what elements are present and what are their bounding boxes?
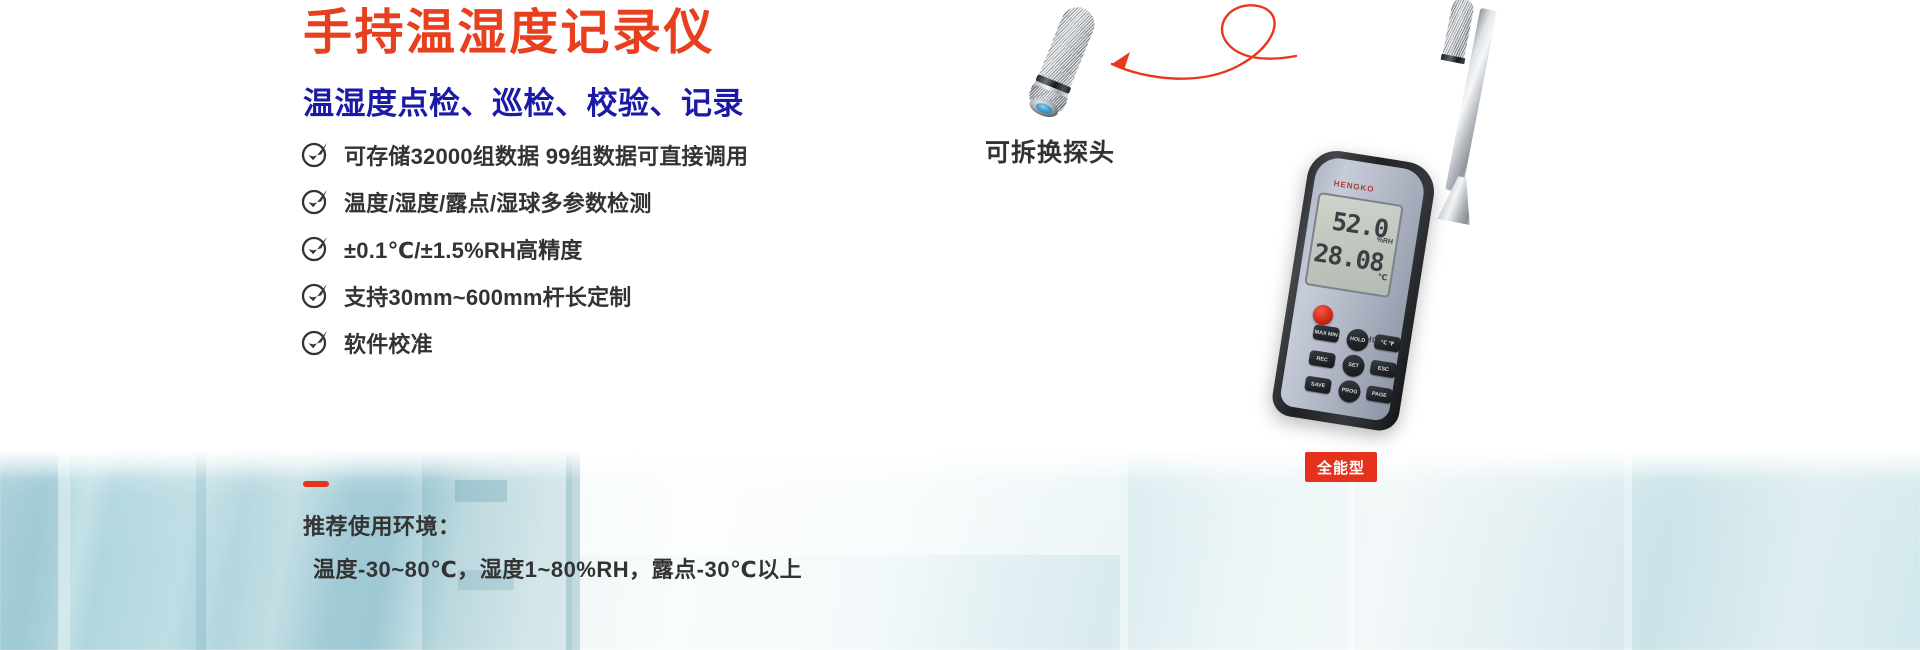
lcd-screen: 52.0 %RH 28.08 ℃ [1304,192,1404,298]
key-esc[interactable]: ESC [1369,359,1397,378]
list-item: 温度/湿度/露点/湿球多参数检测 [302,178,942,225]
list-item: 可存储32000组数据 99组数据可直接调用 [302,131,942,178]
circle-check-icon [302,330,327,355]
feature-list: 可存储32000组数据 99组数据可直接调用 温度/湿度/露点/湿球多参数检测 [302,131,942,366]
key-prog[interactable]: PROG [1337,379,1362,404]
circle-check-icon [302,236,327,261]
key-save[interactable]: SAVE [1304,375,1332,394]
circle-check-icon [302,142,327,167]
key-page[interactable]: PAGE [1365,385,1393,404]
red-dash-divider [303,481,329,487]
status-badge: 全能型 [1305,452,1377,482]
key-max-min[interactable]: MAX MIN [1312,324,1340,343]
feature-text: 温度/湿度/露点/湿球多参数检测 [344,186,652,218]
feature-text: 软件校准 [344,327,433,359]
probe-rod-cap [1442,0,1475,60]
handheld-meter: HENGKO 52.0 %RH 28.08 ℃ HG970 MAX MIN HO… [1115,0,1535,510]
list-item: ±0.1℃/±1.5%RH高精度 [302,225,942,272]
product-column: 可拆换探头 HENGKO 52.0 %RH 28.08 ℃ HG970 MAX … [940,0,1920,650]
environment-title: 推荐使用环境： [303,509,802,541]
lcd-temperature-value: 28.08 [1312,238,1386,278]
key-set[interactable]: SET [1341,353,1366,378]
environment-spec: 温度-30~80℃，湿度1~80%RH，露点-30℃以上 [303,552,802,584]
feature-text: 支持30mm~600mm杆长定制 [344,280,631,312]
list-item: 支持30mm~600mm杆长定制 [302,272,942,319]
probe-rod-taper [1437,174,1478,225]
lcd-humidity-unit: %RH [1376,237,1393,246]
probe-label: 可拆换探头 [985,133,1115,169]
key-rec[interactable]: REC [1308,350,1336,369]
circle-check-icon [302,189,327,214]
key-unit[interactable]: ℃ ℉ [1373,334,1401,353]
copy-column: 手持温湿度记录仪 温湿度点检、巡检、校验、记录 可存储32000组数据 99组数… [0,0,960,650]
page-subtitle: 温湿度点检、巡检、校验、记录 [303,78,744,123]
lcd-temperature-unit: ℃ [1377,272,1388,282]
keypad: MAX MIN HOLD ℃ ℉ REC SET ESC SAVE PROG P… [1298,322,1423,430]
environment-block: 推荐使用环境： 温度-30~80℃，湿度1~80%RH，露点-30℃以上 [303,481,802,584]
product-banner: 手持温湿度记录仪 温湿度点检、巡检、校验、记录 可存储32000组数据 99组数… [0,0,1920,650]
circle-check-icon [302,283,327,308]
page-title: 手持温湿度记录仪 [303,9,715,59]
key-hold[interactable]: HOLD [1345,327,1370,352]
list-item: 软件校准 [302,319,942,366]
feature-text: 可存储32000组数据 99组数据可直接调用 [344,139,748,171]
feature-text: ±0.1℃/±1.5%RH高精度 [344,233,583,265]
